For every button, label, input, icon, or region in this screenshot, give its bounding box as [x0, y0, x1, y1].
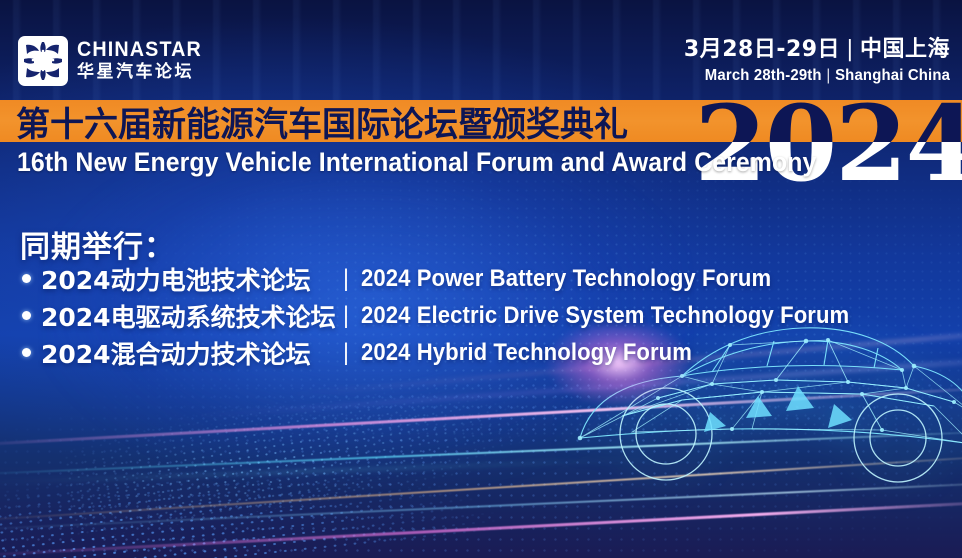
date-separator-cn: |: [840, 37, 860, 62]
forum-list-item: 2024动力电池技术论坛 | 2024 Power Battery Techno…: [22, 262, 892, 295]
brand-logo: CHINASTAR 华星汽车论坛: [18, 36, 210, 86]
forum-name-en: 2024 Electric Drive System Technology Fo…: [361, 302, 849, 330]
event-date-cn-row: 3月28日-29日|中国上海: [684, 38, 950, 63]
concurrent-heading: 同期举行：: [20, 222, 175, 266]
bullet-dot-icon: [22, 311, 31, 320]
bullet-dot-icon: [22, 348, 31, 357]
bullet-dot-icon: [22, 274, 31, 283]
event-date-en: March 28th-29th: [705, 67, 822, 84]
concurrent-forum-list: 2024动力电池技术论坛 | 2024 Power Battery Techno…: [22, 262, 892, 369]
brand-name-cn: 华星汽车论坛: [77, 64, 210, 81]
forum-separator: |: [331, 265, 361, 293]
forum-name-en: 2024 Hybrid Technology Forum: [361, 339, 692, 367]
forum-list-item: 2024混合动力技术论坛 | 2024 Hybrid Technology Fo…: [22, 336, 892, 369]
date-separator-en: |: [822, 67, 835, 84]
forum-separator: |: [331, 302, 361, 330]
forum-name-cn: 2024电驱动系统技术论坛: [41, 298, 331, 334]
forum-name-en: 2024 Power Battery Technology Forum: [361, 265, 771, 293]
brand-logo-text: CHINASTAR 华星汽车论坛: [77, 39, 210, 83]
chinastar-burst-logo-icon: [18, 36, 68, 86]
forum-list-item: 2024电驱动系统技术论坛 | 2024 Electric Drive Syst…: [22, 299, 892, 332]
event-date-en-row: March 28th-29th|Shanghai China: [703, 67, 950, 85]
brand-name-en: CHINASTAR: [77, 39, 202, 60]
event-location-cn: 中国上海: [860, 37, 950, 62]
event-date-location: 3月28日-29日|中国上海 March 28th-29th|Shanghai …: [684, 38, 950, 85]
event-title-en: 16th New Energy Vehicle International Fo…: [17, 143, 816, 181]
event-title-cn: 第十六届新能源汽车国际论坛暨颁奖典礼: [16, 100, 628, 142]
event-banner: CHINASTAR 华星汽车论坛 3月28日-29日|中国上海 March 28…: [0, 0, 962, 558]
forum-name-cn: 2024混合动力技术论坛: [41, 335, 331, 371]
event-location-en: Shanghai China: [835, 67, 950, 84]
banner-header: CHINASTAR 华星汽车论坛 3月28日-29日|中国上海 March 28…: [0, 0, 962, 100]
forum-name-cn: 2024动力电池技术论坛: [41, 261, 331, 297]
event-date-cn: 3月28日-29日: [684, 37, 840, 62]
forum-separator: |: [331, 339, 361, 367]
